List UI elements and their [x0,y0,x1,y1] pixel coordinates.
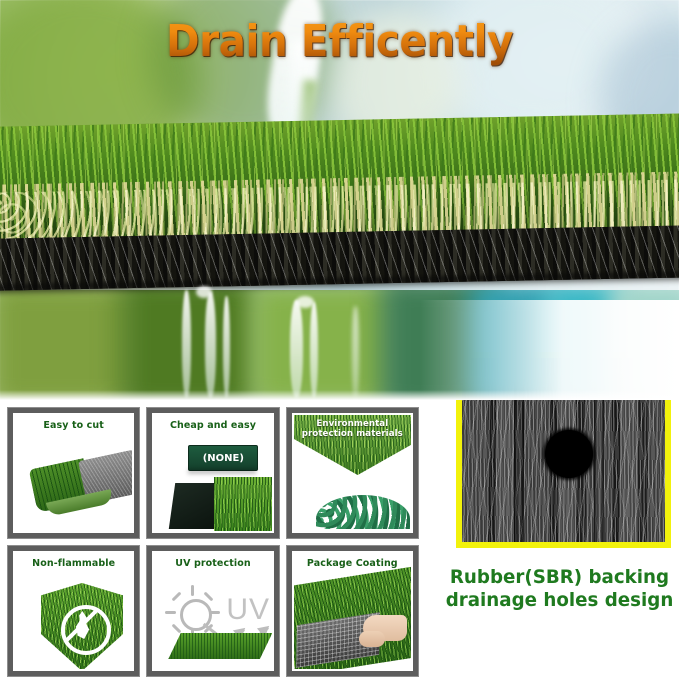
rolled-turf-icon [29,449,133,520]
feature-panel-easy-to-cut[interactable]: Easy to cut [8,408,139,538]
hero-right-fade [420,300,679,400]
feature-caption: Cheap and easy [154,420,271,431]
caption-line-2: drainage holes design [445,589,674,612]
feature-caption: Easy to cut [15,420,132,431]
grass-swatch [214,477,271,531]
green-pellets-icon [316,495,410,529]
drainage-hole-icon [545,430,593,478]
hero-bottom-fade [0,390,679,400]
hero-photo: Drain Efficently [0,0,679,400]
tag-shadow [188,469,256,474]
page-title: Drain Efficently [27,16,652,67]
feature-caption: Package Coating [294,558,411,569]
feature-panel-package-coating[interactable]: Package Coating [287,546,418,676]
water-drip-icon [205,292,216,398]
product-feature-image: Drain Efficently Easy to cut Cheap and e… [0,0,679,679]
price-tag-label: (NONE) [203,453,244,464]
prohibition-ring-icon [61,605,111,655]
feature-grid: Easy to cut Cheap and easy (NONE) [8,408,418,676]
page-title-text: Drain Efficently [166,16,513,67]
price-tag-icon: (NONE) [188,445,258,471]
water-droplet-icon [196,286,212,298]
feature-panel-cheap-and-easy[interactable]: Cheap and easy (NONE) [147,408,278,538]
water-drip-icon [223,296,230,398]
water-drip-icon [182,290,191,398]
right-panel-caption: Rubber(SBR) backing drainage holes desig… [445,566,674,612]
feature-caption: Environmental protection materials [294,419,411,439]
feature-panel-environmental-materials[interactable]: Environmental protection materials [287,408,418,538]
turf-cross-section [0,120,679,310]
water-drip-icon [310,302,318,398]
water-droplet-icon [296,296,314,308]
hand-icon [359,631,385,647]
water-drip-icon [352,306,359,398]
caption-line-1: Rubber(SBR) backing [445,566,674,589]
feature-caption: UV protection [154,558,271,569]
feature-panel-non-flammable[interactable]: Non-flammable [8,546,139,676]
feature-panel-uv-protection[interactable]: UV protection UV [147,546,278,676]
turf-pad-icon [168,633,271,659]
water-drip-icon [290,300,303,398]
feature-caption: Non-flammable [15,558,132,569]
